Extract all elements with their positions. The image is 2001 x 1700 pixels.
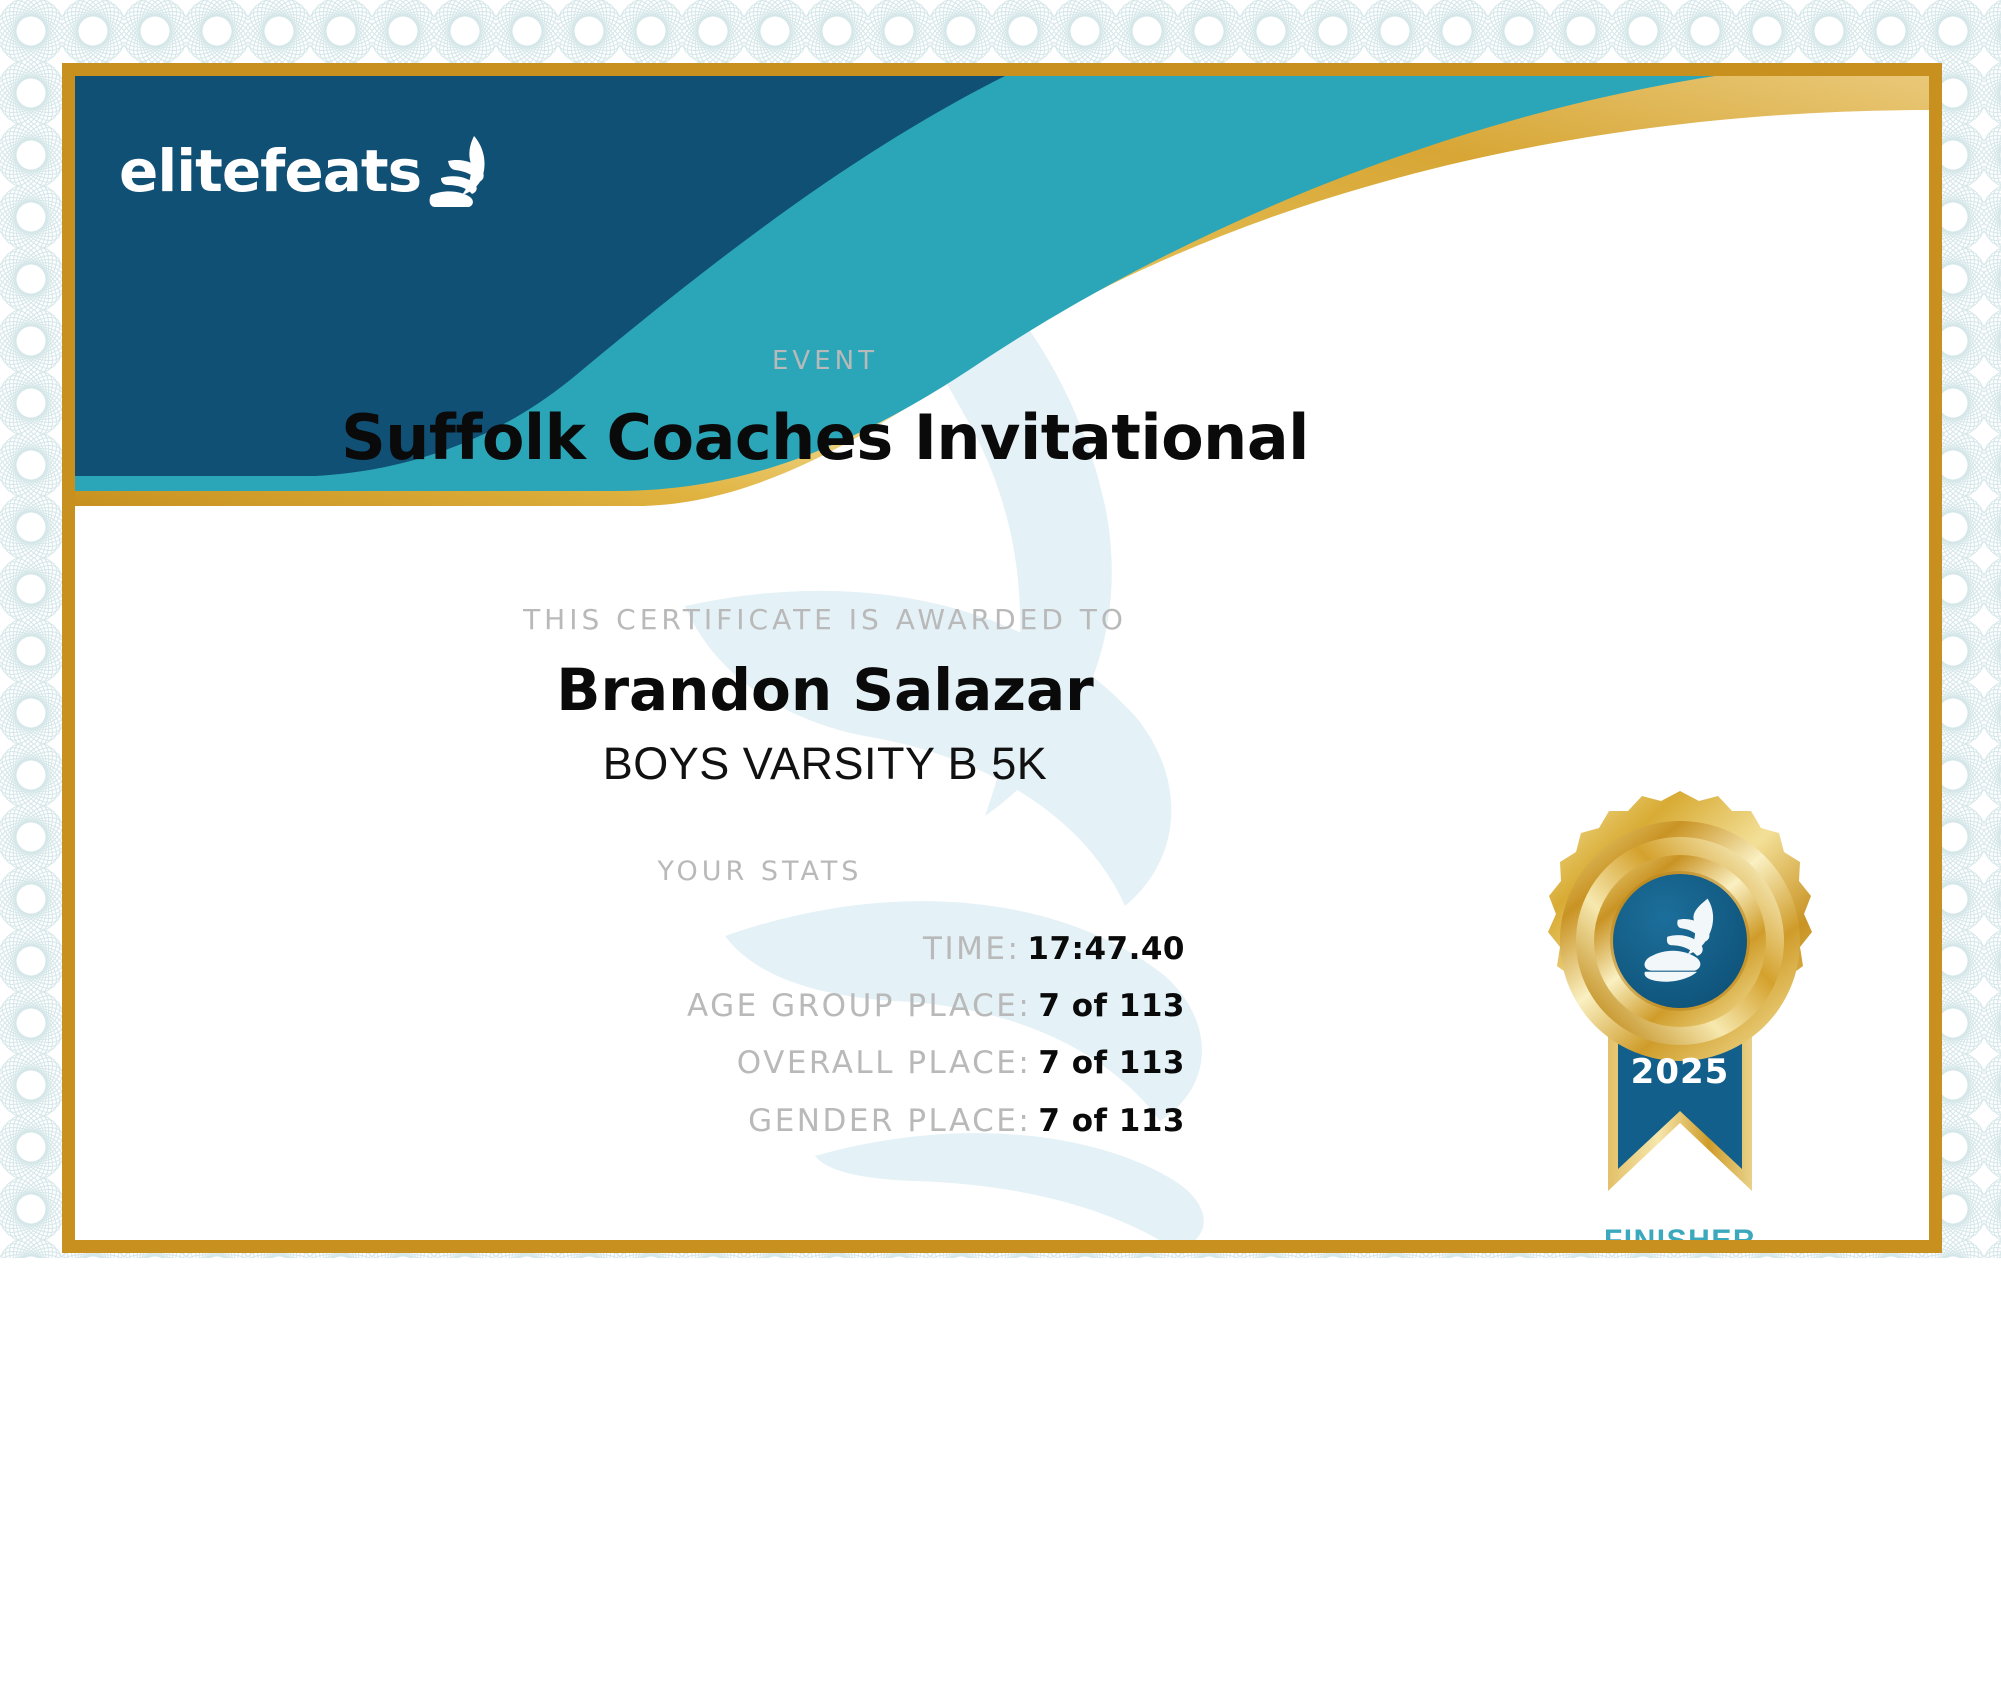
finisher-seal: 2025 FINISHER CERTIFICATE (1515, 791, 1845, 1253)
stat-value: 7 of 113 (1038, 1045, 1185, 1081)
stat-row: GENDER PLACE:7 of 113 (75, 1103, 1185, 1140)
stat-key: OVERALL PLACE: (737, 1045, 1032, 1081)
stat-value: 7 of 113 (1038, 988, 1185, 1024)
stat-key: AGE GROUP PLACE: (687, 988, 1031, 1024)
stat-row: OVERALL PLACE:7 of 113 (75, 1045, 1185, 1082)
event-title: Suffolk Coaches Invitational (75, 401, 1575, 474)
stat-key: GENDER PLACE: (748, 1103, 1031, 1139)
certificate-frame: elitefeats EVENT Suffolk Coaches Invitat… (62, 63, 1942, 1253)
certificate-page: elitefeats EVENT Suffolk Coaches Invitat… (0, 0, 2001, 1700)
race-category: BOYS VARSITY B 5K (75, 738, 1575, 790)
event-label: EVENT (75, 346, 1575, 376)
stat-value: 7 of 113 (1038, 1103, 1185, 1139)
stat-row: AGE GROUP PLACE:7 of 113 (75, 988, 1185, 1025)
medal-seal-icon: 2025 (1530, 791, 1830, 1211)
stat-row: TIME:17:47.40 (75, 931, 1185, 968)
seal-caption-line1: FINISHER (1515, 1224, 1845, 1253)
stat-value: 17:47.40 (1027, 931, 1185, 967)
certificate-content: EVENT Suffolk Coaches Invitational THIS … (75, 76, 1929, 1240)
recipient-name: Brandon Salazar (75, 656, 1575, 724)
awarded-to-label: THIS CERTIFICATE IS AWARDED TO (75, 603, 1575, 636)
seal-year: 2025 (1631, 1052, 1730, 1092)
stats-list: TIME:17:47.40 AGE GROUP PLACE:7 of 113 O… (75, 931, 1185, 1160)
seal-caption: FINISHER CERTIFICATE (1515, 1224, 1845, 1253)
stat-key: TIME: (923, 931, 1020, 967)
your-stats-label: YOUR STATS (75, 856, 1445, 887)
